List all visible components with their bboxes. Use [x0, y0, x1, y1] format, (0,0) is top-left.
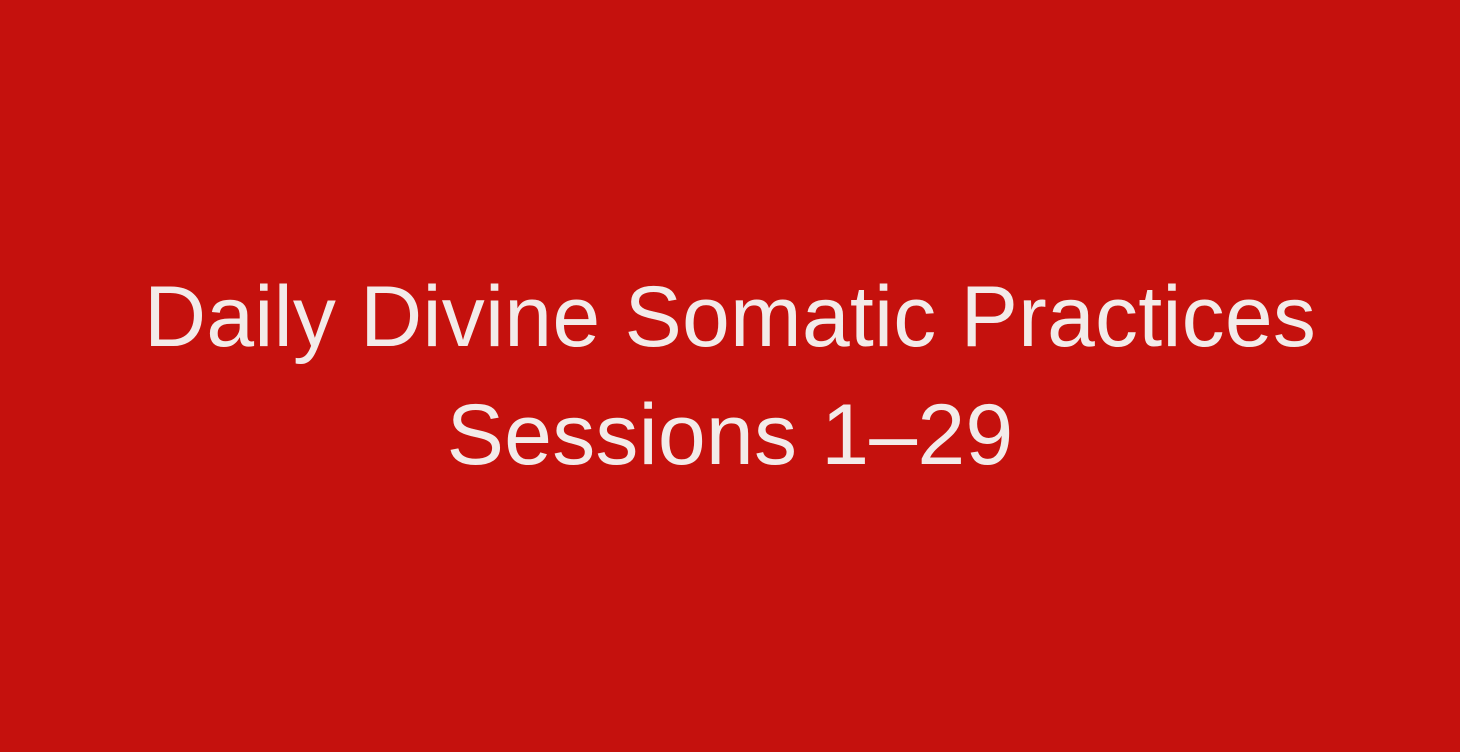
title-line-secondary: Sessions 1–29	[447, 376, 1014, 494]
title-line-primary: Daily Divine Somatic Practices	[144, 258, 1316, 376]
title-slide: Daily Divine Somatic Practices Sessions …	[0, 0, 1460, 752]
title-block: Daily Divine Somatic Practices Sessions …	[0, 258, 1460, 494]
